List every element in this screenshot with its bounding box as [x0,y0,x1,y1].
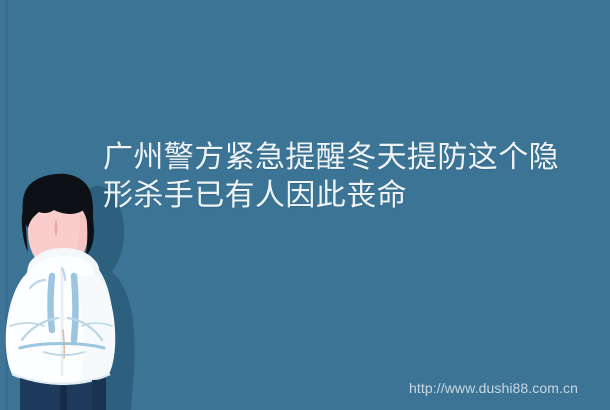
page-title: 广州警方紧急提醒冬天提防这个隐形杀手已有人因此丧命 [103,139,583,215]
watermark-url: http://www.dushi88.com.cn [409,379,578,397]
thumbnail-canvas: 广州警方紧急提醒冬天提防这个隐形杀手已有人因此丧命 http://www.dus… [0,0,610,410]
background-vertical-stripe [5,0,8,410]
